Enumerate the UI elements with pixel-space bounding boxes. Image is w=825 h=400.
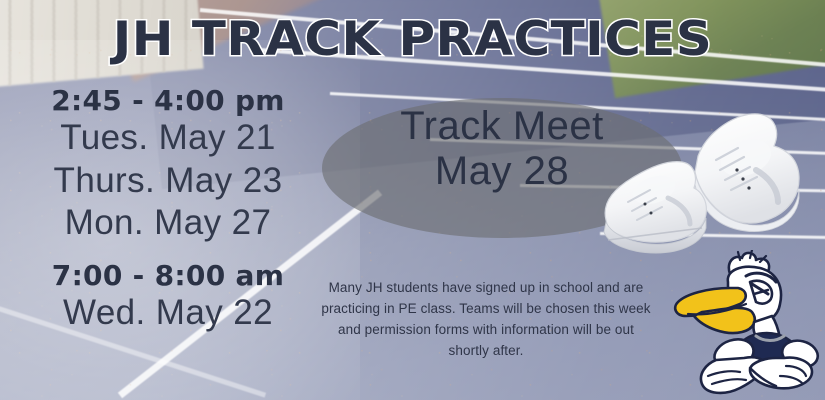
schedule-date-tuesday: Tues. May 21 <box>18 117 318 160</box>
schedule-block-divider <box>18 245 318 259</box>
schedule-date-thursday: Thurs. May 23 <box>18 160 318 203</box>
schedule-date-monday: Mon. May 27 <box>18 202 318 245</box>
sneaker-back <box>694 114 799 232</box>
sneaker-front <box>604 162 706 253</box>
sneakers-icon <box>598 98 825 263</box>
sneakers-photo <box>598 98 825 263</box>
schedule-time-morning: 7:00 - 8:00 am <box>18 259 318 292</box>
practice-schedule: 2:45 - 4:00 pm Tues. May 21 Thurs. May 2… <box>18 84 318 335</box>
informational-paragraph: Many JH students have signed up in schoo… <box>316 278 656 362</box>
schedule-time-afternoon: 2:45 - 4:00 pm <box>18 84 318 117</box>
track-practices-poster: JH TRACK PRACTICES 2:45 - 4:00 pm Tues. … <box>0 0 825 400</box>
page-title: JH TRACK PRACTICES <box>0 12 825 67</box>
schedule-date-wednesday: Wed. May 22 <box>18 292 318 335</box>
school-mascot <box>668 250 823 395</box>
fighting-duck-mascot-icon <box>668 250 823 395</box>
